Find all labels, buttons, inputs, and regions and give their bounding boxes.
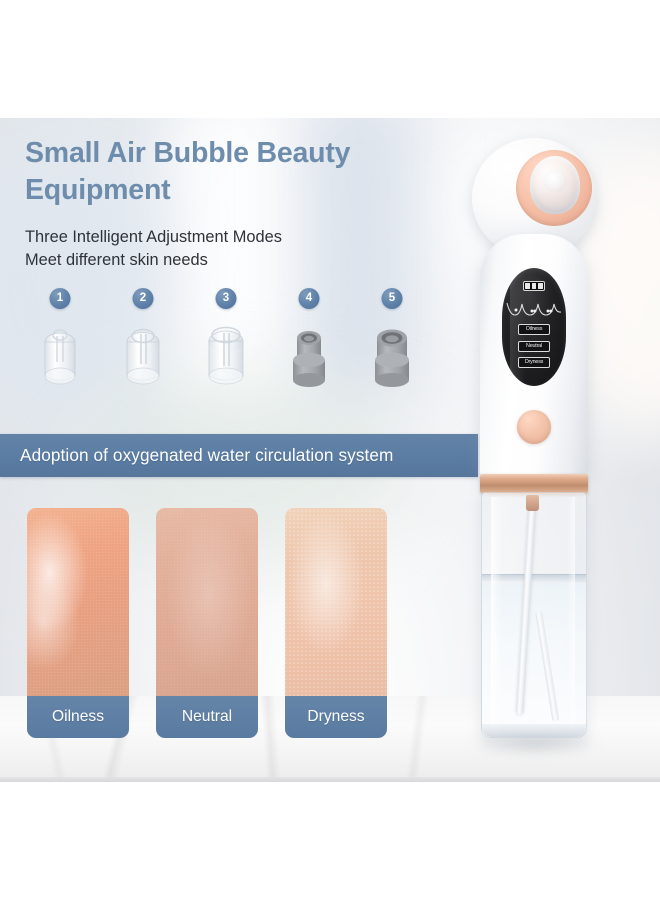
subtitle: Three Intelligent Adjustment Modes Meet …	[25, 226, 445, 272]
device-handle: Oilness Neutral Dryness	[480, 234, 588, 482]
suction-wave-icon	[506, 299, 562, 318]
device-shadow	[470, 736, 600, 752]
skin-type-row: Oilness Neutral Dryness	[27, 508, 417, 738]
skin-type-card: Oilness	[27, 508, 129, 738]
skin-type-label: Neutral	[156, 696, 258, 738]
tube-connector	[526, 495, 539, 511]
nozzle-attachment-row: 1 2	[28, 288, 428, 398]
suction-nozzle	[530, 156, 580, 214]
nozzle-item: 4	[277, 288, 341, 398]
feature-banner-text: Adoption of oxygenated water circulation…	[20, 434, 393, 477]
nozzle-item: 2	[111, 288, 175, 398]
mode-indicator-dryness: Dryness	[518, 357, 550, 368]
page-title: Small Air Bubble Beauty Equipment	[25, 135, 455, 210]
tank-collar	[480, 474, 588, 494]
skin-sample-image	[27, 508, 129, 698]
nozzle-item: 3	[194, 288, 258, 398]
skin-type-label: Oilness	[27, 696, 129, 738]
nozzle-tip-clear-icon	[116, 320, 170, 392]
nozzle-tip-gray-icon	[365, 320, 419, 392]
power-button[interactable]	[517, 410, 551, 444]
nozzle-tip-clear-icon	[199, 320, 253, 392]
product-infographic: Small Air Bubble Beauty Equipment Three …	[0, 0, 660, 900]
nozzle-badge: 1	[50, 288, 71, 309]
mode-indicator-oilness: Oilness	[518, 324, 550, 335]
feature-banner: Adoption of oxygenated water circulation…	[0, 434, 478, 477]
tank-highlight	[491, 497, 502, 731]
nozzle-tip-clear-icon	[33, 320, 87, 392]
nozzle-badge: 4	[299, 288, 320, 309]
mode-indicator-neutral: Neutral	[518, 341, 550, 352]
subtitle-line-2: Meet different skin needs	[25, 249, 445, 272]
skin-type-card: Neutral	[156, 508, 258, 738]
nozzle-item: 5	[360, 288, 424, 398]
battery-indicator-icon	[523, 281, 545, 291]
nozzle-badge: 5	[382, 288, 403, 309]
skin-type-card: Dryness	[285, 508, 387, 738]
counter-edge	[0, 777, 660, 782]
nozzle-badge: 3	[216, 288, 237, 309]
product-device: Oilness Neutral Dryness	[452, 138, 620, 752]
nozzle-badge: 2	[133, 288, 154, 309]
nozzle-item: 1	[28, 288, 92, 398]
subtitle-line-1: Three Intelligent Adjustment Modes	[25, 226, 445, 249]
skin-sample-image	[285, 508, 387, 698]
tank-highlight	[567, 497, 575, 731]
mode-indicator-list: Oilness Neutral Dryness	[502, 324, 566, 368]
skin-type-label: Dryness	[285, 696, 387, 738]
device-display-screen: Oilness Neutral Dryness	[502, 268, 566, 386]
skin-sample-image	[156, 508, 258, 698]
nozzle-tip-gray-icon	[282, 320, 336, 392]
water-tank	[481, 492, 587, 738]
